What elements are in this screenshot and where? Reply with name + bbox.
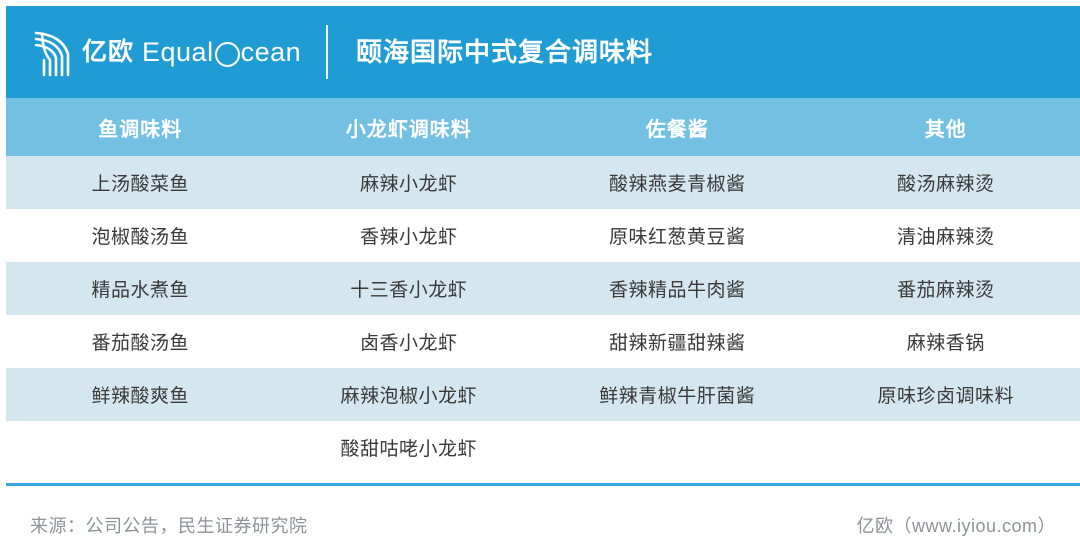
brand-name-cn: 亿欧 xyxy=(82,40,134,65)
table-cell: 麻辣香锅 xyxy=(812,315,1080,368)
infographic-page: 亿欧 Equal cean 颐海国际中式复合调味料 鱼调味料 小龙虾调味料 佐餐… xyxy=(0,0,1080,558)
table-body: 上汤酸菜鱼 麻辣小龙虾 酸辣燕麦青椒酱 酸汤麻辣烫 泡椒酸汤鱼 香辣小龙虾 原味… xyxy=(6,156,1080,474)
table-cell: 麻辣泡椒小龙虾 xyxy=(275,368,544,421)
brand-circle-o-icon xyxy=(215,42,240,67)
brand-en-pre: Equal xyxy=(142,39,214,66)
table-cell: 十三香小龙虾 xyxy=(275,262,544,315)
table-row: 精品水煮鱼 十三香小龙虾 香辣精品牛肉酱 番茄麻辣烫 xyxy=(6,262,1080,315)
table-head: 鱼调味料 小龙虾调味料 佐餐酱 其他 xyxy=(6,98,1080,156)
header-band: 亿欧 Equal cean 颐海国际中式复合调味料 xyxy=(6,6,1080,98)
table-cell: 上汤酸菜鱼 xyxy=(6,156,275,209)
source-note: 来源：公司公告，民生证券研究院 xyxy=(30,512,308,538)
table-cell: 酸辣燕麦青椒酱 xyxy=(543,156,812,209)
table-row: 番茄酸汤鱼 卤香小龙虾 甜辣新疆甜辣酱 麻辣香锅 xyxy=(6,315,1080,368)
table-cell: 香辣精品牛肉酱 xyxy=(543,262,812,315)
table-cell xyxy=(812,421,1080,474)
brand-en-post: cean xyxy=(241,39,302,66)
column-header-crayfish: 小龙虾调味料 xyxy=(275,98,544,156)
table-cell: 鲜辣青椒牛肝菌酱 xyxy=(543,368,812,421)
table-cell: 酸汤麻辣烫 xyxy=(812,156,1080,209)
table-header-row: 鱼调味料 小龙虾调味料 佐餐酱 其他 xyxy=(6,98,1080,156)
footer-rule xyxy=(6,483,1080,486)
table-cell: 泡椒酸汤鱼 xyxy=(6,209,275,262)
table-cell: 卤香小龙虾 xyxy=(275,315,544,368)
column-header-other: 其他 xyxy=(812,98,1080,156)
table-cell: 香辣小龙虾 xyxy=(275,209,544,262)
site-credit: 亿欧（www.iyiou.com） xyxy=(856,512,1056,538)
page-title: 颐海国际中式复合调味料 xyxy=(356,39,653,65)
table-cell xyxy=(6,421,275,474)
table-cell: 原味珍卤调味料 xyxy=(812,368,1080,421)
table-cell: 番茄酸汤鱼 xyxy=(6,315,275,368)
footer: 来源：公司公告，民生证券研究院 亿欧（www.iyiou.com） xyxy=(6,497,1080,552)
column-header-sauce: 佐餐酱 xyxy=(543,98,812,156)
table-row: 酸甜咕咾小龙虾 xyxy=(6,421,1080,474)
brand-lockup: 亿欧 Equal cean xyxy=(6,27,306,77)
product-table: 鱼调味料 小龙虾调味料 佐餐酱 其他 上汤酸菜鱼 麻辣小龙虾 酸辣燕麦青椒酱 酸… xyxy=(6,98,1080,474)
brand-name-en: Equal cean xyxy=(142,39,301,66)
table-cell: 麻辣小龙虾 xyxy=(275,156,544,209)
table-cell: 酸甜咕咾小龙虾 xyxy=(275,421,544,474)
column-header-fish: 鱼调味料 xyxy=(6,98,275,156)
table-cell: 清油麻辣烫 xyxy=(812,209,1080,262)
table-row: 上汤酸菜鱼 麻辣小龙虾 酸辣燕麦青椒酱 酸汤麻辣烫 xyxy=(6,156,1080,209)
table-cell: 甜辣新疆甜辣酱 xyxy=(543,315,812,368)
table-cell xyxy=(543,421,812,474)
table-cell: 番茄麻辣烫 xyxy=(812,262,1080,315)
header-divider xyxy=(326,25,328,79)
table-cell: 精品水煮鱼 xyxy=(6,262,275,315)
table-cell: 原味红葱黄豆酱 xyxy=(543,209,812,262)
table-row: 泡椒酸汤鱼 香辣小龙虾 原味红葱黄豆酱 清油麻辣烫 xyxy=(6,209,1080,262)
product-table-wrapper: 鱼调味料 小龙虾调味料 佐餐酱 其他 上汤酸菜鱼 麻辣小龙虾 酸辣燕麦青椒酱 酸… xyxy=(6,98,1080,474)
table-cell: 鲜辣酸爽鱼 xyxy=(6,368,275,421)
equalocean-tree-logo-icon xyxy=(28,27,74,77)
table-row: 鲜辣酸爽鱼 麻辣泡椒小龙虾 鲜辣青椒牛肝菌酱 原味珍卤调味料 xyxy=(6,368,1080,421)
